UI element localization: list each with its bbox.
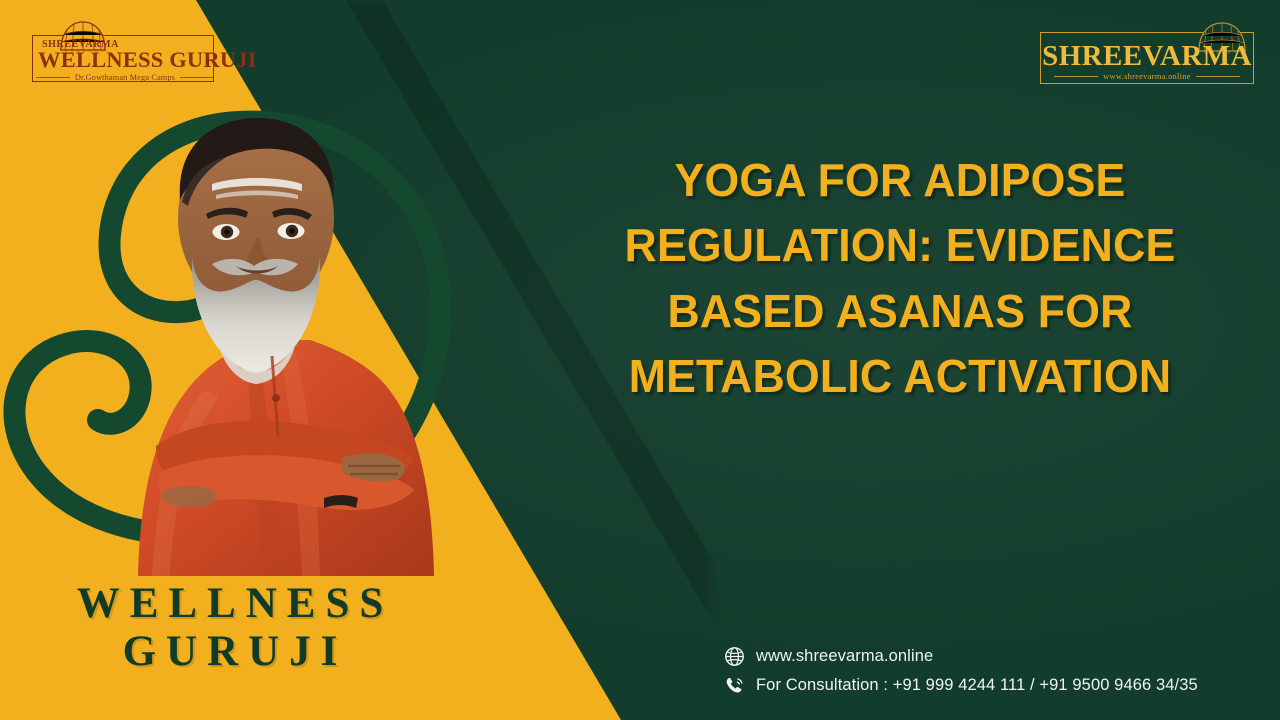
headline-line-3: BASED ASANAS FOR [570, 279, 1230, 344]
headline-line-2: REGULATION: EVIDENCE [570, 213, 1230, 278]
wordmark-line-1: WELLNESS [0, 580, 470, 628]
logo-right-tagline-text: www.shreevarma.online [1103, 72, 1191, 81]
logo-left-tagline-text: Dr.Gowthaman Mega Camps [75, 73, 175, 82]
logo-left-tagline: Dr.Gowthaman Mega Camps [36, 73, 214, 82]
headline-line-1: YOGA FOR ADIPOSE [570, 148, 1230, 213]
logo-right-title: SHREEVARMA [1040, 40, 1254, 73]
page-title: YOGA FOR ADIPOSE REGULATION: EVIDENCE BA… [560, 148, 1240, 409]
headline-line-4: METABOLIC ACTIVATION [570, 344, 1230, 409]
phone-call-icon [724, 675, 745, 696]
tagline-rule-left [1054, 76, 1098, 77]
phone-row[interactable]: For Consultation : +91 999 4244 111 / +9… [724, 671, 1198, 700]
avatar [96, 106, 466, 576]
tagline-rule-right [180, 77, 214, 78]
phone-text: For Consultation : +91 999 4244 111 / +9… [756, 676, 1198, 695]
wellness-guruji-logo[interactable]: SHREEVARMA WELLNESS GURUJI Dr.Gowthaman … [18, 14, 218, 86]
logo-right-tagline: www.shreevarma.online [1054, 72, 1240, 81]
shreevarma-logo[interactable]: SHREEVARMA www.shreevarma.online [1040, 22, 1254, 86]
tagline-rule-right [1196, 76, 1240, 77]
wellness-guruji-wordmark: WELLNESS GURUJI [0, 580, 470, 676]
poster-canvas: SHREEVARMA WELLNESS GURUJI Dr.Gowthaman … [0, 0, 1280, 720]
tagline-rule-left [36, 77, 70, 78]
website-row[interactable]: www.shreevarma.online [724, 642, 1198, 671]
contact-info: www.shreevarma.online For Consultation :… [724, 642, 1198, 700]
wordmark-line-2: GURUJI [0, 628, 470, 676]
globe-icon [724, 646, 745, 667]
website-text: www.shreevarma.online [756, 647, 933, 666]
logo-left-title: WELLNESS GURUJI [38, 47, 210, 73]
